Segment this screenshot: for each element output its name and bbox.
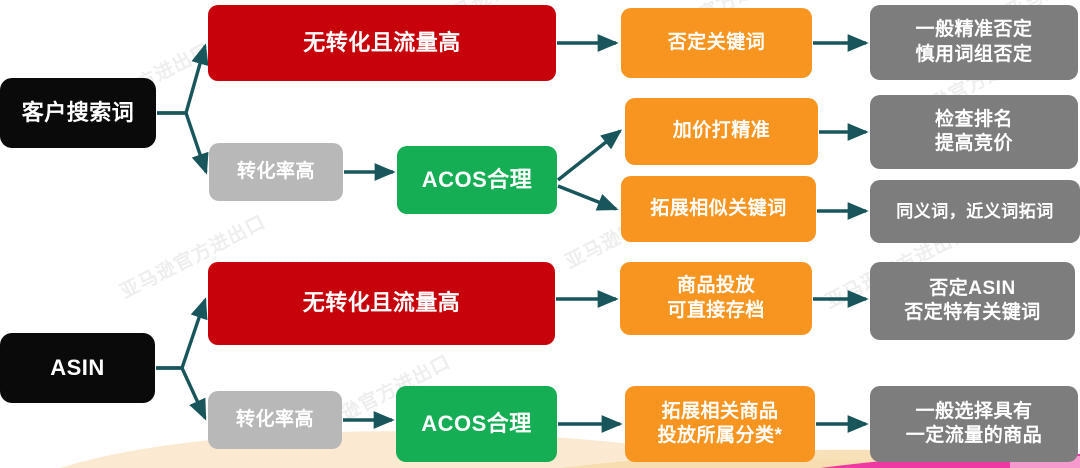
node-asin-expand-product[interactable]: 拓展相关商品 投放所属分类* bbox=[625, 386, 815, 462]
node-label: 拓展相似关键词 bbox=[650, 197, 787, 221]
node-asin-choose-detail[interactable]: 一般选择具有 一定流量的商品 bbox=[870, 386, 1078, 462]
node-label: 无转化且流量高 bbox=[303, 289, 461, 317]
node-root-asin[interactable]: ASIN bbox=[0, 333, 155, 403]
node-st-expand-similar-kw[interactable]: 拓展相似关键词 bbox=[621, 176, 816, 242]
node-root-search-term[interactable]: 客户搜索词 bbox=[0, 78, 156, 148]
edge-acos-to-expand-keyword bbox=[558, 186, 616, 209]
node-asin-high-cvr[interactable]: 转化率高 bbox=[208, 391, 342, 449]
node-st-negate-detail[interactable]: 一般精准否定 慎用词组否定 bbox=[870, 5, 1078, 80]
node-label: 否定ASIN 否定特有关键词 bbox=[904, 277, 1041, 326]
edge-search-term-to-no-conversion bbox=[157, 46, 205, 113]
node-st-bid-up-exact[interactable]: 加价打精准 bbox=[625, 98, 818, 165]
edge-search-term-to-high-cvr bbox=[157, 113, 206, 172]
node-st-high-cvr[interactable]: 转化率高 bbox=[209, 143, 343, 201]
node-asin-acos-ok[interactable]: ACOS合理 bbox=[396, 386, 557, 462]
node-asin-product-target[interactable]: 商品投放 可直接存档 bbox=[620, 262, 812, 335]
node-label: 加价打精准 bbox=[673, 119, 771, 143]
node-label: 一般精准否定 慎用词组否定 bbox=[915, 18, 1032, 67]
node-label: 一般选择具有 一定流量的商品 bbox=[906, 400, 1043, 449]
node-st-acos-ok[interactable]: ACOS合理 bbox=[397, 146, 557, 214]
node-st-negate-keyword[interactable]: 否定关键词 bbox=[621, 8, 812, 78]
edge-acos-to-bid-up bbox=[558, 131, 620, 180]
node-st-synonym-detail[interactable]: 同义词，近义词拓词 bbox=[870, 180, 1080, 243]
node-st-no-conv[interactable]: 无转化且流量高 bbox=[208, 5, 556, 81]
node-label: 检查排名 提高竞价 bbox=[935, 108, 1013, 157]
node-label: ACOS合理 bbox=[422, 166, 533, 194]
node-label: 拓展相关商品 投放所属分类* bbox=[658, 400, 783, 449]
node-label: 商品投放 可直接存档 bbox=[667, 274, 765, 323]
node-label: 否定关键词 bbox=[668, 31, 766, 55]
node-label: ACOS合理 bbox=[421, 410, 532, 438]
node-label: 客户搜索词 bbox=[22, 99, 135, 127]
edge-asin-to-no-conversion bbox=[156, 300, 205, 368]
node-label: ASIN bbox=[50, 354, 105, 382]
node-label: 同义词，近义词拓词 bbox=[896, 201, 1054, 223]
diagram-canvas: 亚马逊官方进出口 亚马逊官方进出口 亚马逊官方进出口 亚马逊官方进出口 亚马逊官… bbox=[0, 0, 1080, 468]
node-label: 转化率高 bbox=[237, 160, 315, 184]
node-asin-no-conv[interactable]: 无转化且流量高 bbox=[208, 262, 555, 345]
node-label: 转化率高 bbox=[236, 408, 314, 432]
node-label: 无转化且流量高 bbox=[303, 29, 461, 57]
node-asin-negate-detail[interactable]: 否定ASIN 否定特有关键词 bbox=[870, 262, 1075, 340]
node-st-rank-detail[interactable]: 检查排名 提高竞价 bbox=[870, 95, 1078, 169]
edge-asin-to-high-cvr bbox=[156, 368, 205, 418]
